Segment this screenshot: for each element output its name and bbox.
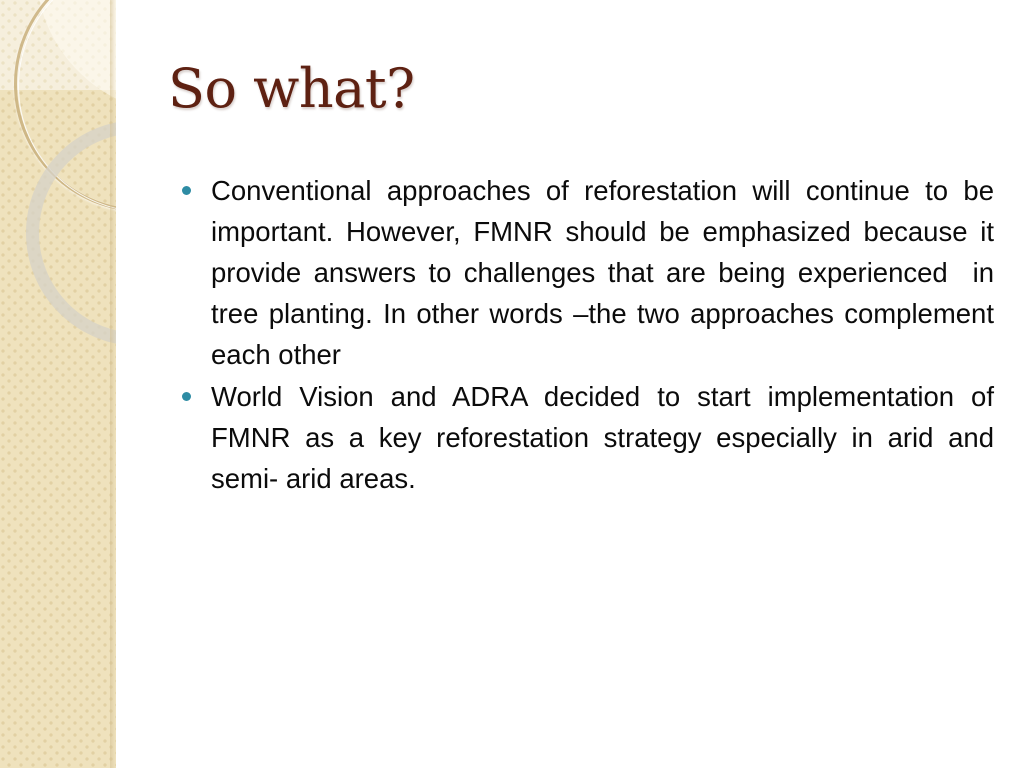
slide-title: So what? — [168, 58, 988, 120]
sidebar-decoration-band — [0, 0, 116, 768]
sidebar-edge-shadow — [110, 0, 116, 768]
slide-canvas: So what? Conventional approaches of refo… — [0, 0, 1024, 768]
bullet-list-item: World Vision and ADRA decided to start i… — [178, 376, 994, 499]
bullet-list-item: Conventional approaches of reforestation… — [178, 170, 994, 375]
round-bullet-icon — [182, 186, 191, 195]
bullet-item-text: World Vision and ADRA decided to start i… — [211, 376, 994, 499]
slide-body: Conventional approaches of reforestation… — [178, 170, 994, 499]
round-bullet-icon — [182, 392, 191, 401]
bullet-item-text: Conventional approaches of reforestation… — [211, 170, 994, 375]
